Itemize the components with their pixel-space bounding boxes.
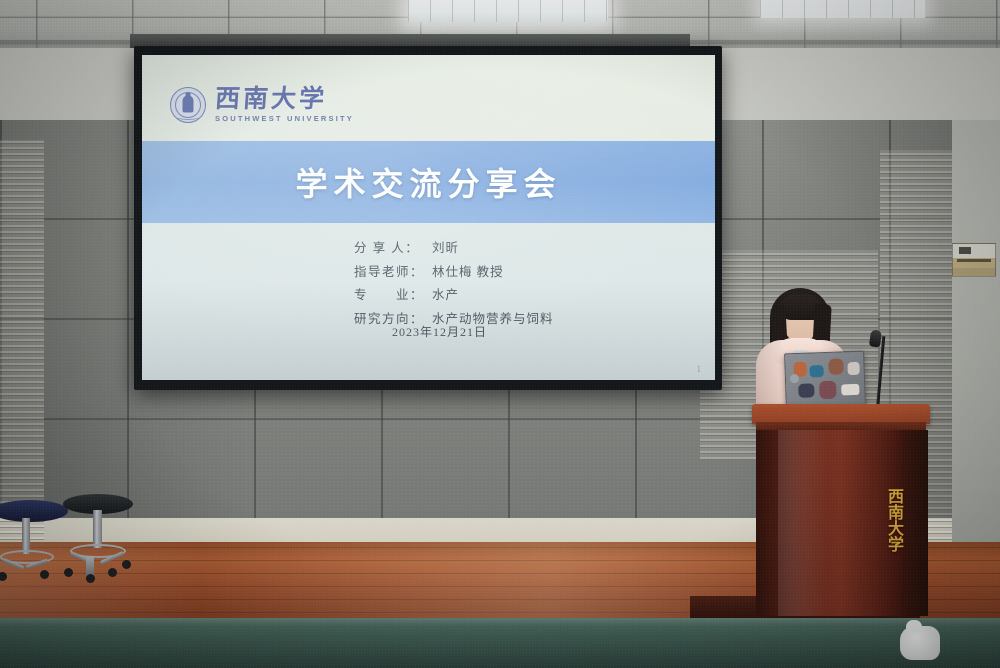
slide-meta-list: 分 享 人： 刘昕 指导老师： 林仕梅 教授 专 业： 水产 研究方向： — [354, 241, 554, 336]
laptop-sticker — [841, 384, 859, 396]
laptop-sticker — [828, 358, 844, 375]
stool-caster — [0, 572, 7, 581]
wall-louver-left — [0, 140, 44, 540]
podium: 西南大学 — [752, 404, 930, 616]
slide-page-number: 1 — [697, 364, 702, 374]
laptop-sticker — [819, 381, 837, 400]
laptop[interactable] — [784, 351, 866, 410]
university-crest-icon — [170, 87, 206, 123]
laptop-sticker — [790, 374, 799, 383]
podium-lip — [756, 422, 926, 430]
ceiling-light-panel — [408, 0, 608, 22]
meta-row-presenter: 分 享 人： 刘昕 — [354, 241, 554, 257]
stool-post — [22, 518, 30, 554]
meta-row-major: 专 业： 水产 — [354, 288, 554, 304]
slide-title: 学术交流分享会 — [295, 159, 561, 205]
white-bag-knot — [906, 620, 922, 632]
stool-left-black — [56, 494, 140, 590]
logo-chinese-name: 西南大学 — [214, 87, 355, 112]
logo-english-name: SOUTHWEST UNIVERSITY — [215, 115, 354, 123]
projection-screen: 西南大学 SOUTHWEST UNIVERSITY 学术交流分享会 分 享 人：… — [134, 46, 722, 390]
meta-key: 分 享 人： — [354, 241, 432, 257]
meta-value: 林仕梅 教授 — [432, 265, 504, 281]
ceiling — [0, 0, 1000, 52]
stool-caster — [40, 570, 49, 579]
wall-right-column — [952, 120, 1000, 550]
stool-caster — [108, 568, 117, 577]
projected-slide-surface: 西南大学 SOUTHWEST UNIVERSITY 学术交流分享会 分 享 人：… — [142, 55, 715, 380]
meta-value: 水产 — [432, 288, 459, 304]
podium-label: 西南大学 — [778, 460, 904, 580]
logo-wordmark: 西南大学 SOUTHWEST UNIVERSITY — [215, 87, 354, 123]
stool-caster — [122, 560, 131, 569]
laptop-sticker — [809, 365, 823, 377]
meta-value: 刘昕 — [432, 241, 459, 257]
sign-icon — [959, 247, 971, 254]
slide-header: 西南大学 SOUTHWEST UNIVERSITY — [142, 55, 715, 141]
lecture-hall-scene: 西南大学 SOUTHWEST UNIVERSITY 学术交流分享会 分 享 人：… — [0, 0, 1000, 668]
slide-body: 分 享 人： 刘昕 指导老师： 林仕梅 教授 专 业： 水产 研究方向： — [142, 223, 715, 380]
wall-sign-plaque — [952, 243, 996, 277]
slide-title-band: 学术交流分享会 — [142, 141, 715, 223]
laptop-sticker — [847, 362, 859, 375]
podium-side-right — [902, 430, 928, 616]
meta-key: 专 业： — [354, 288, 432, 304]
stool-caster — [64, 568, 73, 577]
presentation-slide: 西南大学 SOUTHWEST UNIVERSITY 学术交流分享会 分 享 人：… — [142, 55, 715, 380]
meta-key: 指导老师： — [354, 265, 432, 281]
university-logo: 西南大学 SOUTHWEST UNIVERSITY — [170, 87, 354, 123]
laptop-sticker — [798, 383, 814, 398]
podium-side-left — [756, 430, 780, 616]
stool-leg — [86, 556, 94, 576]
stool-post — [93, 510, 102, 548]
meta-row-advisor: 指导老师： 林仕梅 教授 — [354, 265, 554, 281]
sign-text-line — [957, 259, 991, 262]
stool-caster — [86, 574, 95, 583]
ceiling-light-panel — [760, 0, 925, 18]
stage-front-highlight — [0, 618, 1000, 626]
slide-date: 2023年12月21日 — [392, 323, 487, 340]
podium-top-surface — [752, 404, 930, 424]
